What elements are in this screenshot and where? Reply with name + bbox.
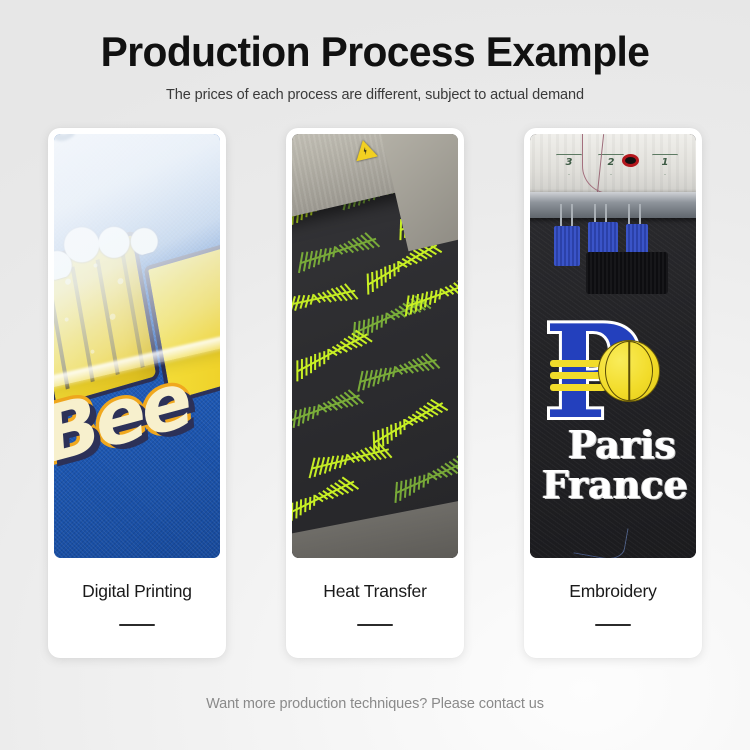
- palm-frond: [296, 226, 380, 275]
- needle-bar: [530, 192, 696, 218]
- card-label-heat-transfer: Heat Transfer: [323, 581, 426, 602]
- page-footer: Want more production techniques? Please …: [0, 696, 750, 712]
- process-card-list: Bee 3 colo Digital Printing: [0, 128, 750, 658]
- card-divider: [119, 624, 155, 626]
- stitch-block-blue-1: [554, 226, 580, 266]
- heat-transfer-photo: [292, 134, 458, 558]
- palm-frond: [292, 383, 364, 435]
- palm-frond: [356, 348, 440, 395]
- tension-marker-label: 3: [556, 154, 582, 175]
- embroidered-text-line-1: Paris: [568, 422, 676, 467]
- page-header: Production Process Example The prices of…: [0, 0, 750, 103]
- palm-frond: [292, 278, 358, 320]
- embroidered-text-line-2: France: [542, 466, 688, 504]
- process-card-digital-printing[interactable]: Bee 3 colo Digital Printing: [48, 128, 226, 658]
- process-card-heat-transfer[interactable]: Heat Transfer: [286, 128, 464, 658]
- palm-frond: [390, 449, 458, 505]
- embroidered-text: Paris France: [568, 426, 688, 504]
- card-divider: [357, 624, 393, 626]
- process-card-embroidery[interactable]: 3 2 1 P: [524, 128, 702, 658]
- embroidery-photo: 3 2 1 P: [530, 134, 696, 558]
- card-label-digital-printing: Digital Printing: [82, 581, 192, 602]
- heat-transfer-caption: Heat Transfer: [292, 558, 458, 658]
- tension-marker-label: 1: [652, 154, 678, 175]
- card-divider: [595, 624, 631, 626]
- production-process-page: Production Process Example The prices of…: [0, 0, 750, 750]
- contact-prompt[interactable]: Want more production techniques? Please …: [0, 696, 750, 712]
- palm-frond: [292, 470, 360, 528]
- basketball-icon: [598, 340, 660, 402]
- thread-strand: [582, 134, 626, 194]
- embroidery-caption: Embroidery: [530, 558, 696, 658]
- digital-printing-photo: Bee 3 colo: [54, 134, 220, 558]
- page-subtitle: The prices of each process are different…: [0, 87, 750, 103]
- card-label-embroidery: Embroidery: [569, 581, 656, 602]
- film-ghost-text: 3 colo: [54, 134, 154, 176]
- digital-printing-caption: Digital Printing: [54, 558, 220, 658]
- tension-marker-3: 3: [556, 154, 582, 175]
- tension-marker-1: 1: [652, 154, 678, 175]
- stitch-block-dark: [586, 252, 668, 294]
- page-title: Production Process Example: [11, 28, 739, 75]
